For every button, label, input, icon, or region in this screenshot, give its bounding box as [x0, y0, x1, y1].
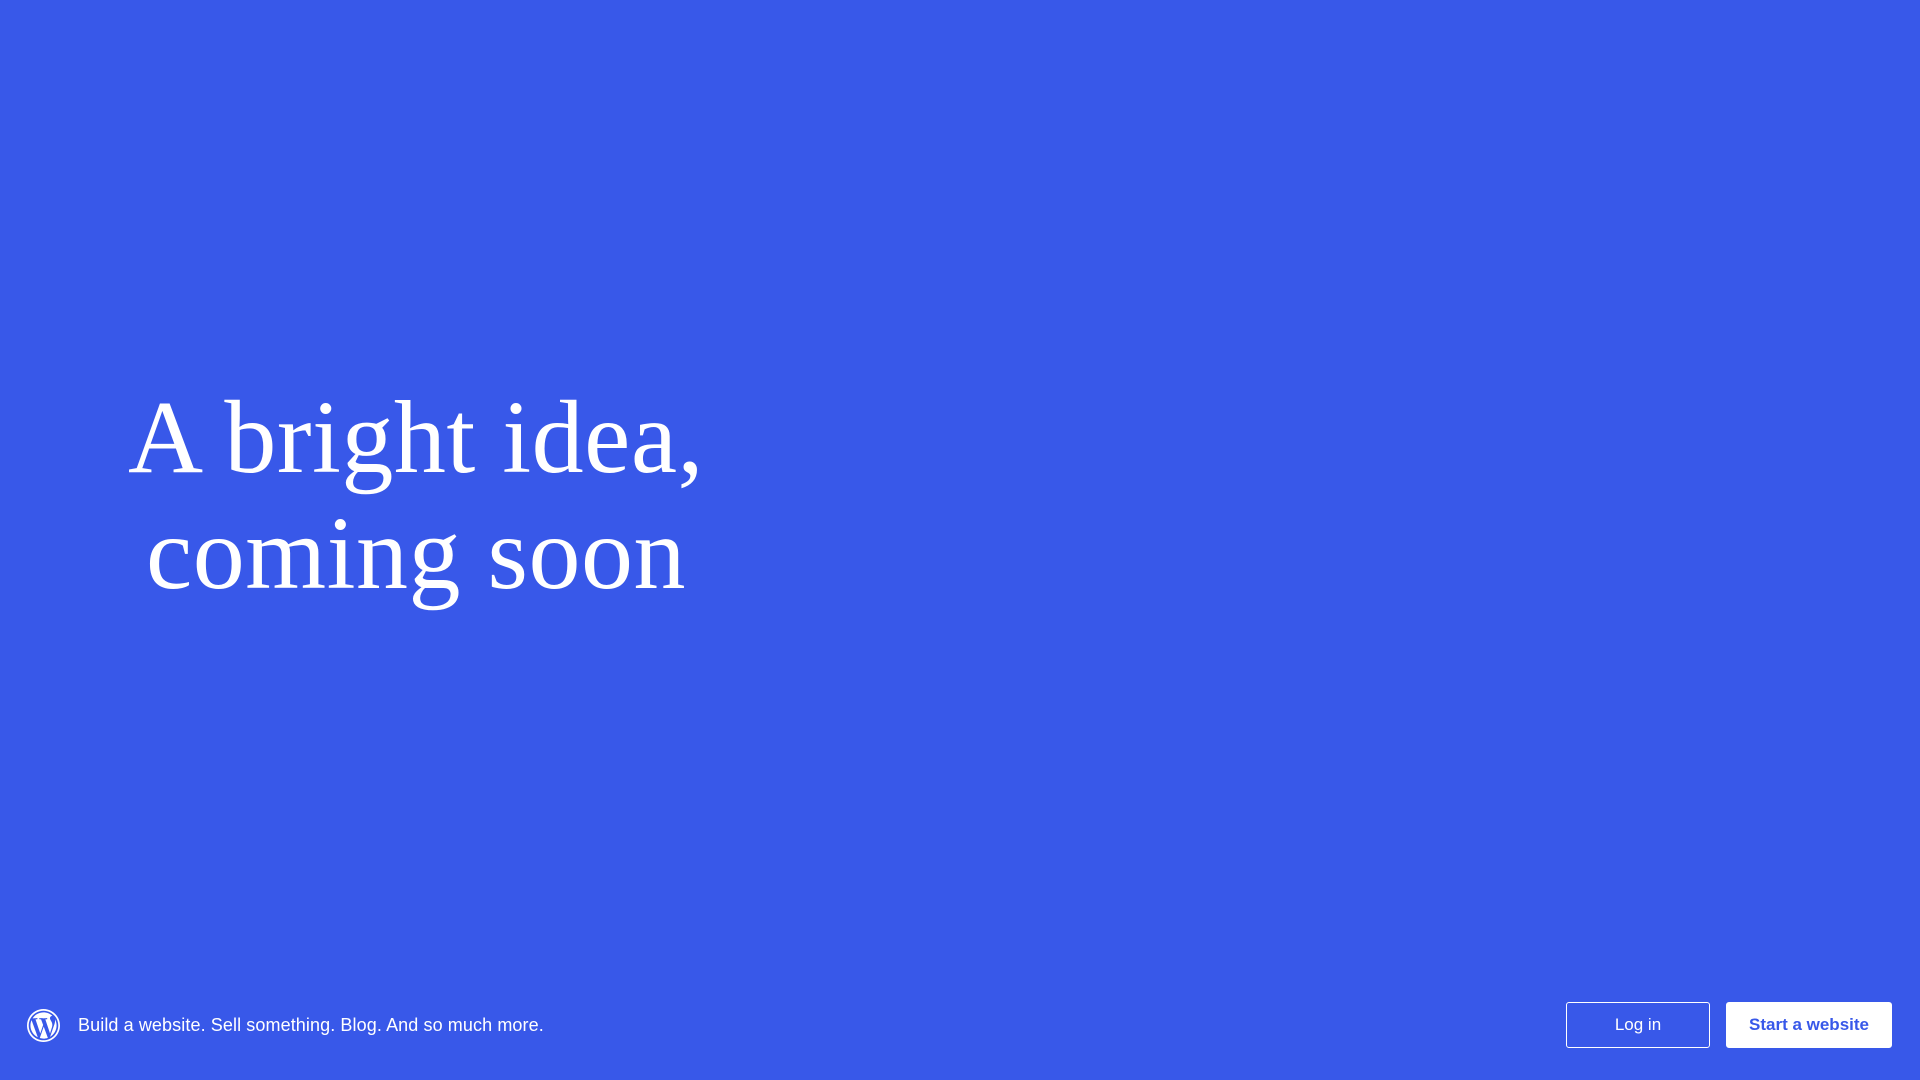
footer-bar: Build a website. Sell something. Blog. A…	[0, 970, 1920, 1080]
footer-branding: Build a website. Sell something. Blog. A…	[27, 1009, 1566, 1042]
coming-soon-page: A bright idea, coming soon Build a websi…	[0, 0, 1920, 1080]
footer-tagline: Build a website. Sell something. Blog. A…	[78, 1015, 544, 1036]
page-title: A bright idea, coming soon	[96, 380, 736, 613]
wordpress-logo-icon[interactable]	[27, 1009, 60, 1042]
footer-actions: Log in Start a website	[1566, 1002, 1892, 1048]
hero-section: A bright idea, coming soon	[0, 0, 1920, 1080]
login-button[interactable]: Log in	[1566, 1002, 1710, 1048]
start-a-website-button[interactable]: Start a website	[1726, 1002, 1892, 1048]
